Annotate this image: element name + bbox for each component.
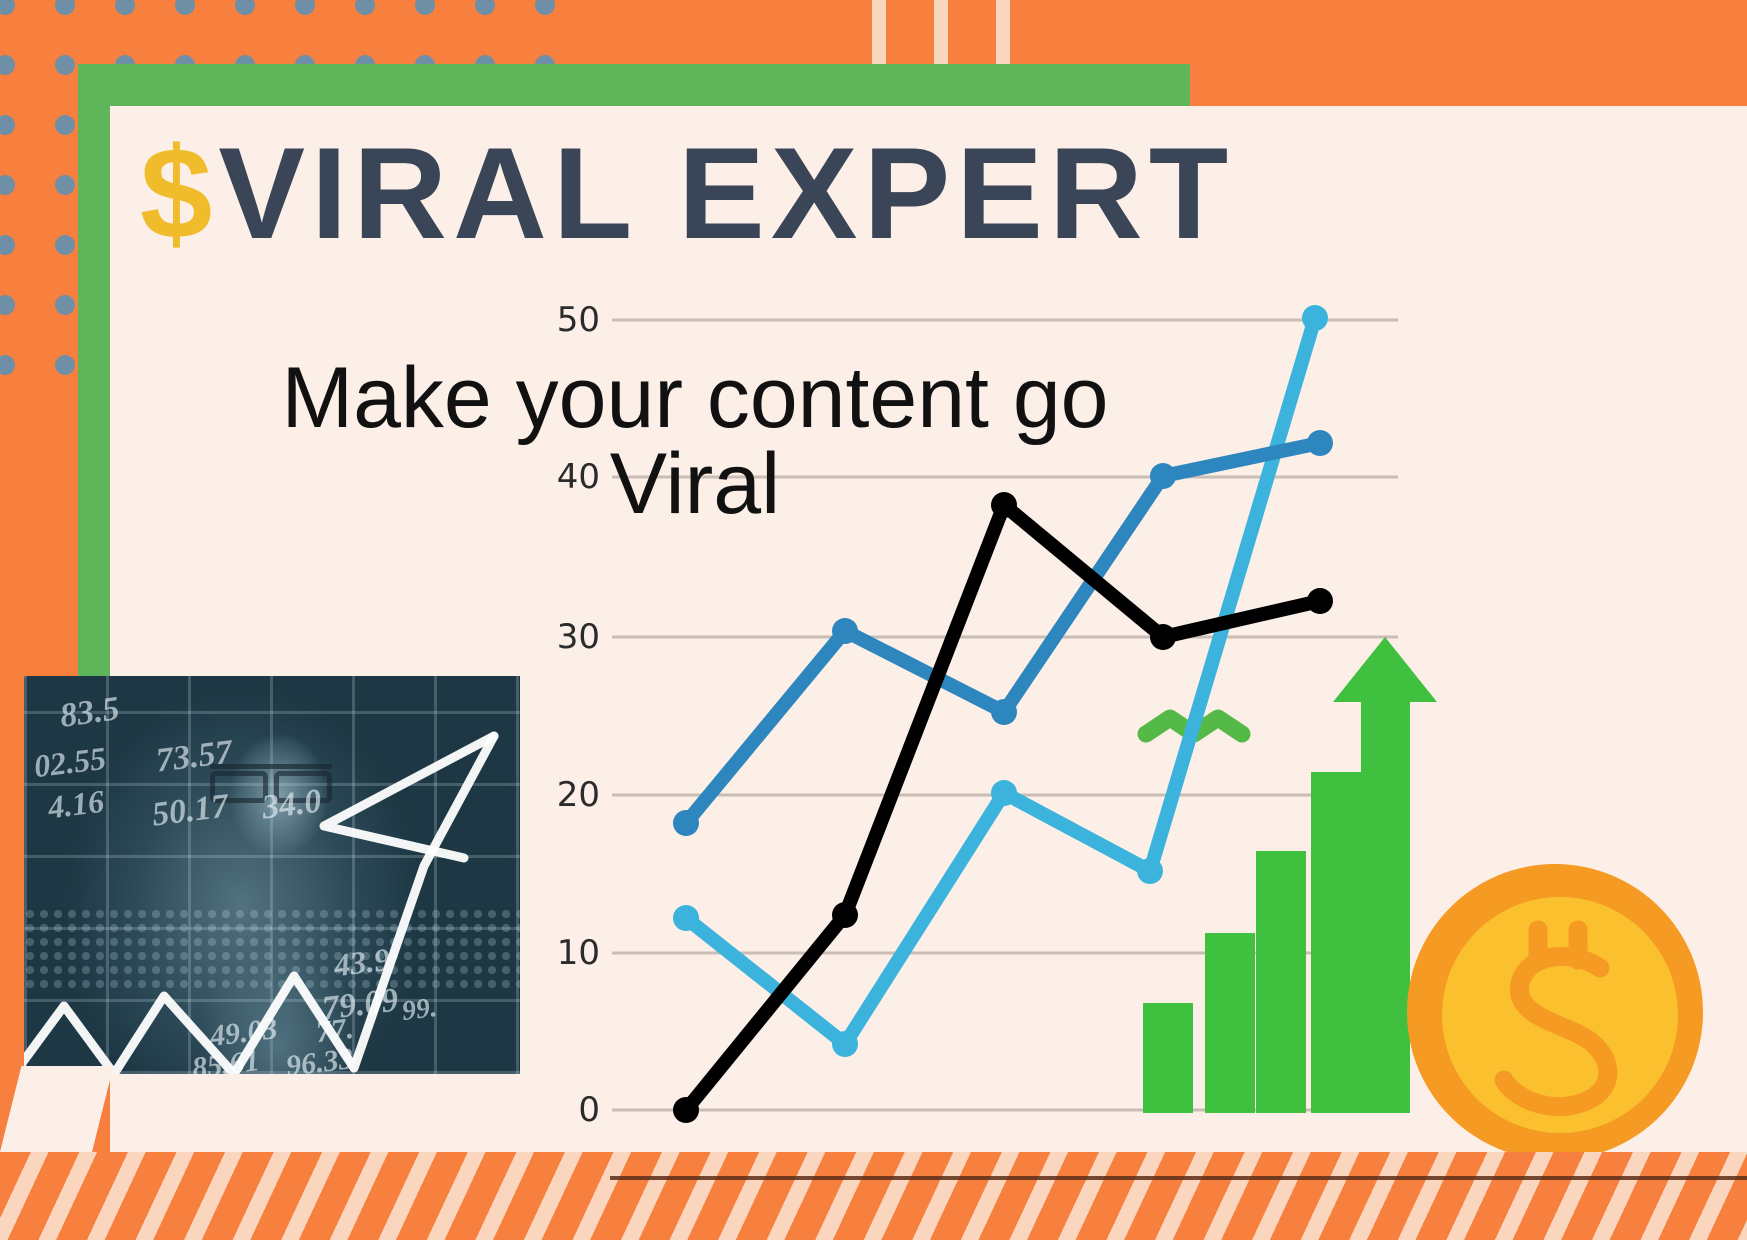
bar-series bbox=[1143, 772, 1361, 1113]
y-axis-tick-50: 50 bbox=[530, 300, 600, 340]
y-axis-tick-0: 0 bbox=[530, 1090, 600, 1130]
subtitle: Make your content go Viral bbox=[175, 355, 1215, 527]
neon-arrow-icon bbox=[24, 676, 520, 1074]
dollar-sign-glyph: $ bbox=[140, 120, 218, 266]
headline-text: VIRAL EXPERT bbox=[218, 120, 1234, 266]
bar-1 bbox=[1143, 1003, 1193, 1113]
y-axis-tick-30: 30 bbox=[530, 617, 600, 657]
y-axis-tick-20: 20 bbox=[530, 775, 600, 815]
poster-canvas: 50 40 30 20 10 0 $VIRAL EXPERT Make your… bbox=[0, 0, 1747, 1240]
bar-4 bbox=[1311, 772, 1361, 1113]
subtitle-line-2: Viral bbox=[175, 441, 1215, 527]
chart-baseline bbox=[610, 1176, 1747, 1180]
dollar-coin-icon bbox=[1407, 864, 1703, 1160]
subtitle-line-1: Make your content go bbox=[281, 350, 1108, 446]
bar-2 bbox=[1205, 933, 1255, 1113]
y-axis-tick-10: 10 bbox=[530, 933, 600, 973]
bar-3 bbox=[1256, 851, 1306, 1113]
analyst-photo: 83.5 02.55 73.57 4.16 50.17 34.0 43.9 79… bbox=[24, 676, 520, 1074]
bottom-hatch-strip bbox=[0, 1152, 1747, 1240]
page-title: $VIRAL EXPERT bbox=[140, 128, 1234, 258]
